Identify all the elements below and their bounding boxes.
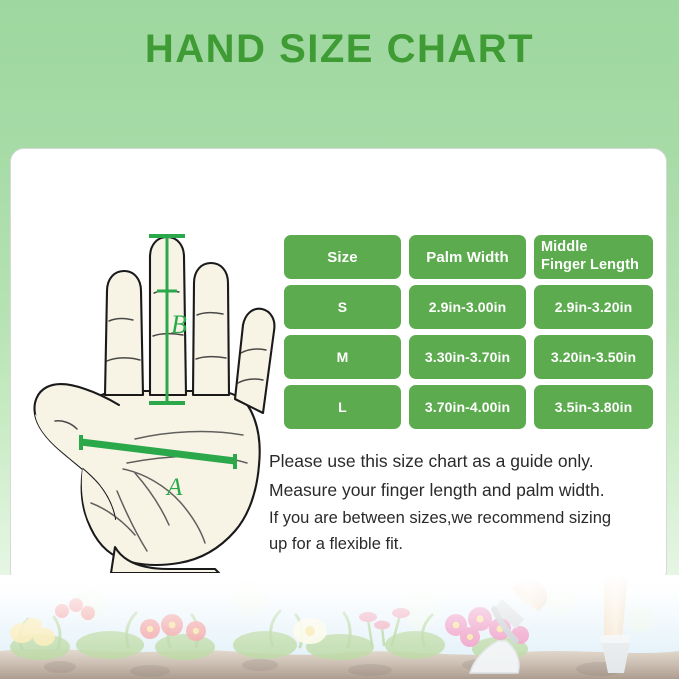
cell-size-m: M bbox=[284, 335, 401, 379]
table-header-row: Size Palm Width Middle Finger Length bbox=[284, 235, 659, 279]
page-title: HAND SIZE CHART bbox=[145, 28, 534, 70]
note-line-3: If you are between sizes,we recommend si… bbox=[269, 505, 667, 531]
size-guide-note: Please use this size chart as a guide on… bbox=[269, 447, 667, 557]
note-line-4: up for a flexible fit. bbox=[269, 531, 667, 557]
table-row: S 2.9in-3.00in 2.9in-3.20in bbox=[284, 285, 659, 329]
cell-palm-width-m: 3.30in-3.70in bbox=[409, 335, 526, 379]
table-row: L 3.70in-4.00in 3.5in-3.80in bbox=[284, 385, 659, 429]
hand-size-chart-page: HAND SIZE CHART bbox=[0, 0, 679, 679]
column-header-mfl-line2: Finger Length bbox=[541, 257, 639, 273]
cell-palm-width-s: 2.9in-3.00in bbox=[409, 285, 526, 329]
cell-middle-finger-length-s: 2.9in-3.20in bbox=[534, 285, 653, 329]
cell-size-l: L bbox=[284, 385, 401, 429]
note-line-2: Measure your finger length and palm widt… bbox=[269, 476, 667, 505]
measure-label-a: A bbox=[165, 474, 183, 501]
hand-diagram-svg: A B bbox=[19, 173, 289, 573]
column-header-middle-finger-length: Middle Finger Length bbox=[534, 235, 653, 279]
hand-diagram: A B bbox=[19, 173, 289, 573]
cell-palm-width-l: 3.70in-4.00in bbox=[409, 385, 526, 429]
table-row: M 3.30in-3.70in 3.20in-3.50in bbox=[284, 335, 659, 379]
column-header-mfl-line1: Middle bbox=[541, 239, 588, 255]
content-card: A B Size Palm Width Middle Finger Length bbox=[10, 148, 667, 585]
cell-size-s: S bbox=[284, 285, 401, 329]
column-header-size: Size bbox=[284, 235, 401, 279]
size-table: Size Palm Width Middle Finger Length S 2… bbox=[284, 235, 659, 435]
footer-garden-photo-svg bbox=[0, 575, 679, 679]
page-title-container: HAND SIZE CHART bbox=[0, 28, 679, 70]
column-header-palm-width: Palm Width bbox=[409, 235, 526, 279]
measure-label-b: B bbox=[171, 310, 187, 339]
cell-middle-finger-length-l: 3.5in-3.80in bbox=[534, 385, 653, 429]
cell-middle-finger-length-m: 3.20in-3.50in bbox=[534, 335, 653, 379]
note-line-1: Please use this size chart as a guide on… bbox=[269, 447, 667, 476]
footer-garden-photo bbox=[0, 575, 679, 679]
